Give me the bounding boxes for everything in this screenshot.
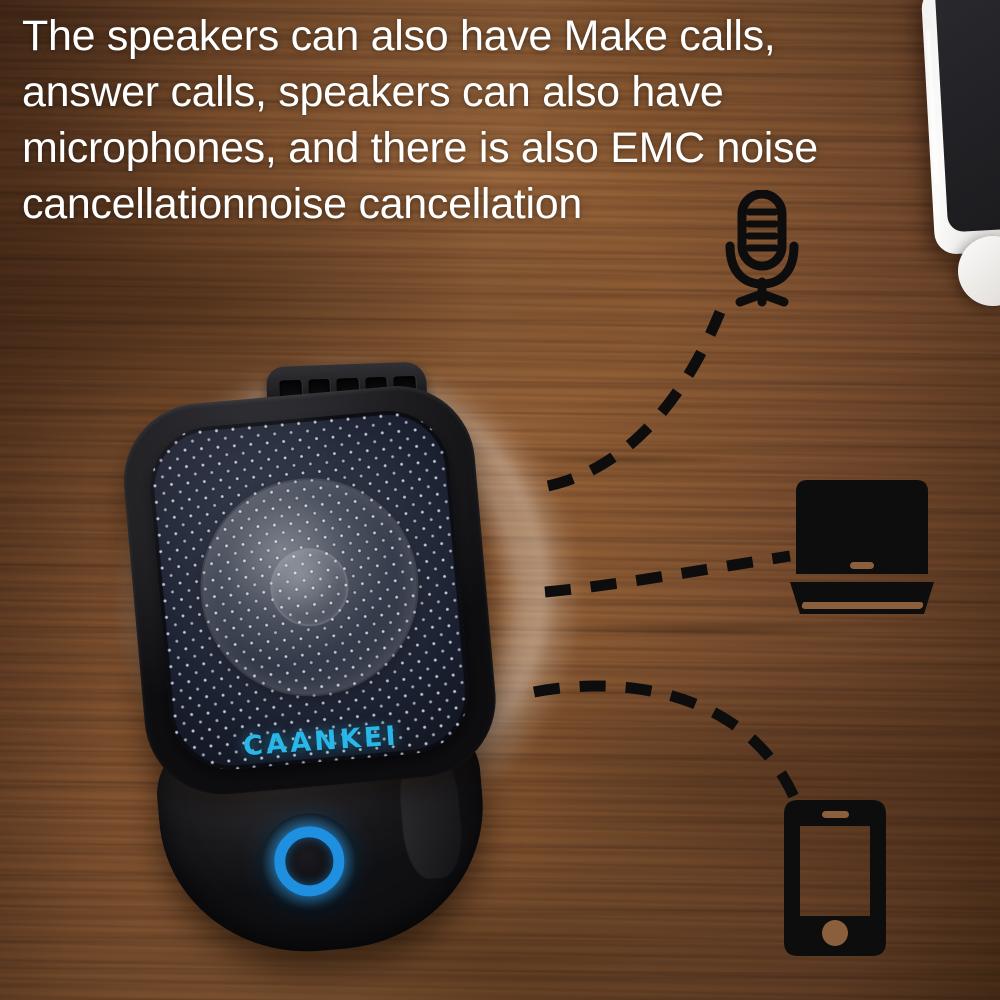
corner-phone-object <box>921 0 1000 255</box>
speaker-grille <box>145 406 474 775</box>
power-led-ring <box>271 823 347 899</box>
product-infographic: The speakers can also have Make calls, a… <box>0 0 1000 1000</box>
microphone-icon <box>716 190 808 308</box>
caankei-speaker-device[interactable]: CAANKEI <box>115 354 517 970</box>
laptop-icon <box>788 478 936 618</box>
phone-icon <box>782 798 888 958</box>
corner-phone-screen <box>933 0 1000 232</box>
